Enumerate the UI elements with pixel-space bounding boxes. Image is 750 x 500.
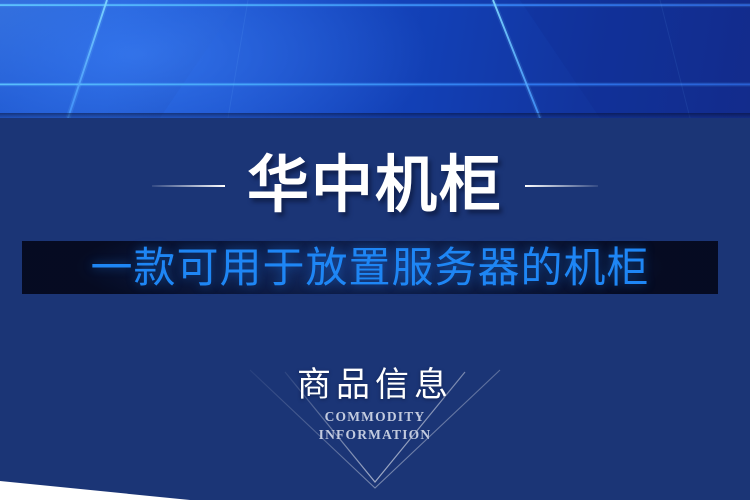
section-heading-en-line2: INFORMATION [0,426,750,444]
title-rule-left [152,185,225,187]
hero-title-row: 华中机柜 [0,146,750,226]
hero-subtitle-band: 一款可用于放置服务器的机柜 [22,241,718,294]
section-heading-en-line1: COMMODITY [0,408,750,426]
banner-line-pattern-icon [0,0,750,118]
top-light-banner [0,0,750,118]
hero-subtitle: 一款可用于放置服务器的机柜 [90,247,649,289]
section-heading-en: COMMODITY INFORMATION [0,408,750,444]
product-banner-page: 华中机柜 一款可用于放置服务器的机柜 商品信息 COMMODITY [0,0,750,500]
page-title: 华中机柜 [225,155,525,217]
corner-wedge-decor [0,465,190,500]
section-heading-cn: 商品信息 [0,366,750,404]
banner-bottom-edge [0,113,750,118]
title-rule-right [525,185,598,187]
section-heading: 商品信息 COMMODITY INFORMATION [0,366,750,445]
